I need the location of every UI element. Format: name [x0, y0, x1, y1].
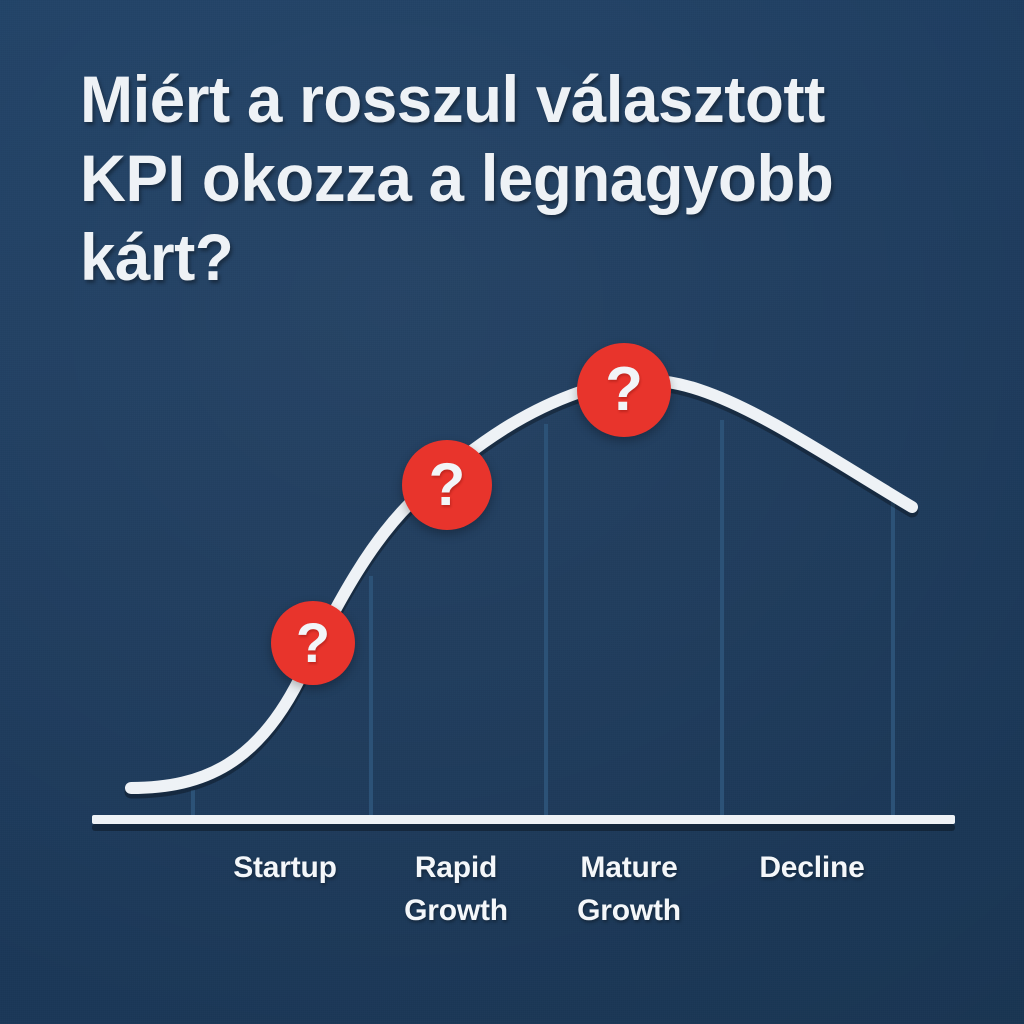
x-axis-line [92, 815, 955, 824]
x-label-rapid-growth: Rapid Growth [404, 846, 508, 932]
question-mark-icon: ? [429, 455, 466, 515]
infographic-canvas: Miért a rosszul választott KPI okozza a … [0, 0, 1024, 1024]
x-axis-labels: Startup Rapid Growth Mature Growth Decli… [0, 846, 1024, 966]
lifecycle-curve [131, 380, 912, 788]
x-label-mature-growth: Mature Growth [577, 846, 681, 932]
chart-x-axis [92, 815, 955, 831]
x-label-decline: Decline [759, 846, 864, 889]
lifecycle-curve-shadow [131, 384, 912, 792]
x-label-startup: Startup [233, 846, 337, 889]
question-marker-rapid-growth[interactable]: ? [402, 440, 492, 530]
x-axis-shadow [92, 824, 955, 831]
question-marker-startup[interactable]: ? [271, 601, 355, 685]
question-marker-mature-growth[interactable]: ? [577, 343, 671, 437]
chart-curve-group [131, 380, 912, 792]
question-mark-icon: ? [296, 615, 330, 671]
page-title: Miért a rosszul választott KPI okozza a … [80, 60, 920, 297]
question-mark-icon: ? [605, 359, 643, 421]
